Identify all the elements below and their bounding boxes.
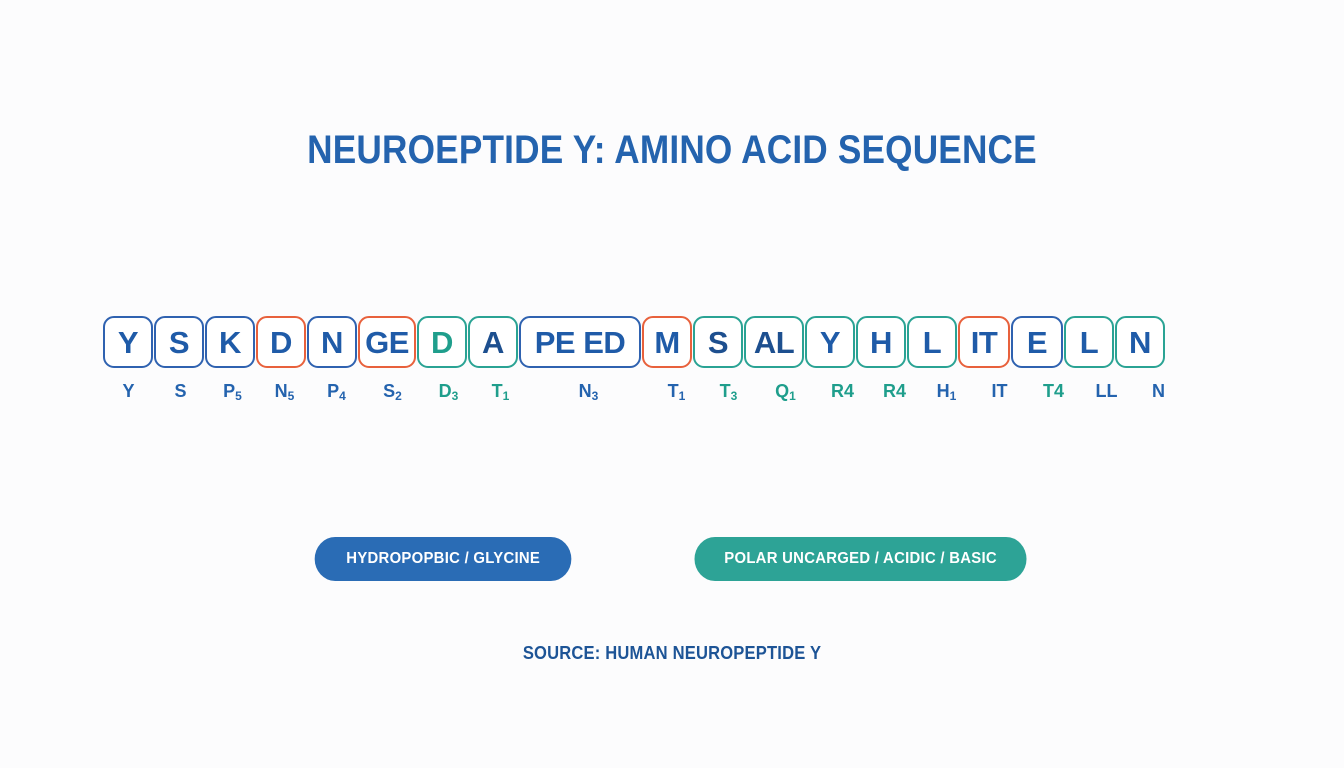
amino-acid-sequence-row: YSKDNGEDAPE EDMSALYHLITELN (103, 316, 1249, 368)
residue-label-subscript: 4 (339, 389, 346, 403)
residue-label: N3 (527, 382, 650, 400)
residue-label: T1 (475, 382, 526, 400)
residue-box[interactable]: M (642, 316, 692, 368)
residue-label-text: N (275, 381, 288, 401)
residue-box[interactable]: GE (358, 316, 416, 368)
residue-label-text: S (383, 381, 395, 401)
residue-label: P4 (311, 382, 362, 400)
residue-label-text: P (327, 381, 339, 401)
residue-label-text: N (579, 381, 592, 401)
residue-label-text: T (668, 381, 679, 401)
residue-box[interactable]: E (1011, 316, 1063, 368)
infographic-canvas: NEUROEPTIDE Y: AMINO ACID SEQUENCE YSKDN… (0, 0, 1344, 768)
residue-label-subscript: 1 (679, 389, 686, 403)
residue-label-text: S (174, 381, 186, 401)
residue-box[interactable]: D (256, 316, 306, 368)
legend-pill-polar[interactable]: POLAR UNCARGED / ACIDIC / BASIC (694, 537, 1026, 581)
residue-label-text: N (1152, 381, 1165, 401)
residue-label-text: Q (775, 381, 789, 401)
residue-box[interactable]: Y (805, 316, 855, 368)
residue-label: S (155, 382, 206, 400)
residue-box[interactable]: AL (744, 316, 804, 368)
residue-label-text: LL (1096, 381, 1118, 401)
residue-label: IT (973, 382, 1026, 400)
residue-label: D3 (423, 382, 474, 400)
residue-label-text: IT (992, 381, 1008, 401)
residue-label: R4 (817, 382, 868, 400)
residue-label: S2 (363, 382, 422, 400)
legend: HYDROPOPBIC / GLYCINE POLAR UNCARGED / A… (0, 537, 1344, 581)
residue-label-row: YSP5N5P4S2D3T1N3T1T3Q1R4R4H1ITT4LLN (103, 382, 1249, 408)
residue-box[interactable]: K (205, 316, 255, 368)
residue-label-subscript: 1 (950, 389, 957, 403)
residue-label-subscript: 5 (288, 389, 295, 403)
residue-label-subscript: 1 (789, 389, 796, 403)
residue-box[interactable]: Y (103, 316, 153, 368)
residue-label: Q1 (755, 382, 816, 400)
residue-label-text: T4 (1043, 381, 1064, 401)
residue-label: LL (1081, 382, 1132, 400)
residue-box[interactable]: S (693, 316, 743, 368)
residue-label: N (1133, 382, 1184, 400)
residue-label-subscript: 3 (592, 389, 599, 403)
residue-label-subscript: 2 (395, 389, 402, 403)
residue-box[interactable]: L (1064, 316, 1114, 368)
page-title: NEUROEPTIDE Y: AMINO ACID SEQUENCE (81, 128, 1264, 173)
residue-box[interactable]: A (468, 316, 518, 368)
residue-label-text: Y (122, 381, 134, 401)
residue-label: Y (103, 382, 154, 400)
residue-box[interactable]: D (417, 316, 467, 368)
residue-label-subscript: 3 (452, 389, 459, 403)
residue-label: P5 (207, 382, 258, 400)
residue-label: H1 (921, 382, 972, 400)
residue-box[interactable]: N (307, 316, 357, 368)
residue-label: N5 (259, 382, 310, 400)
residue-label-text: R4 (883, 381, 906, 401)
residue-label: T4 (1027, 382, 1080, 400)
residue-box[interactable]: H (856, 316, 906, 368)
source-caption: SOURCE: HUMAN NEUROPEPTIDE Y (54, 643, 1290, 664)
residue-label-text: P (223, 381, 235, 401)
residue-box[interactable]: PE ED (519, 316, 641, 368)
residue-box[interactable]: N (1115, 316, 1165, 368)
residue-box[interactable]: S (154, 316, 204, 368)
residue-label-text: H (937, 381, 950, 401)
residue-box[interactable]: IT (958, 316, 1010, 368)
residue-label-subscript: 5 (235, 389, 242, 403)
residue-label: T1 (651, 382, 702, 400)
residue-box[interactable]: L (907, 316, 957, 368)
residue-label-text: R4 (831, 381, 854, 401)
residue-label: T3 (703, 382, 754, 400)
residue-label-text: D (439, 381, 452, 401)
residue-label-subscript: 1 (503, 389, 510, 403)
residue-label-text: T (492, 381, 503, 401)
legend-pill-hydrophobic[interactable]: HYDROPOPBIC / GLYCINE (315, 537, 572, 581)
residue-label: R4 (869, 382, 920, 400)
residue-label-subscript: 3 (731, 389, 738, 403)
residue-label-text: T (720, 381, 731, 401)
